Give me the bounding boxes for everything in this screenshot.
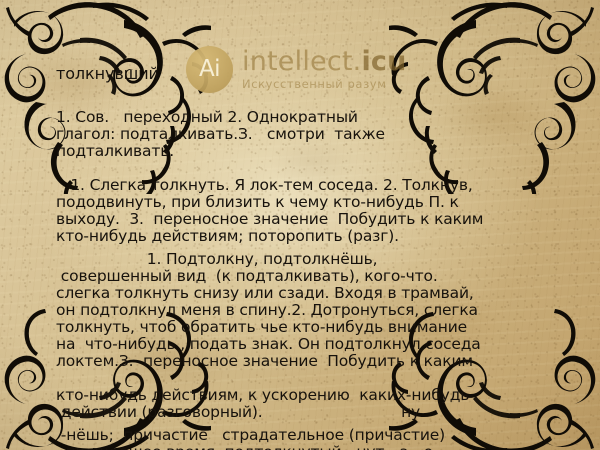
- body-line: глагол: подталкивать.З. смотри также: [56, 127, 385, 143]
- body-line: прошедшее время подтолкнутый, -нут, -а, …: [56, 445, 438, 450]
- body-line: совершенный вид (к подталкивать), кого-ч…: [56, 269, 438, 285]
- body-line: выходу. 3. переносное значение Побудить …: [56, 212, 483, 228]
- body-line: 1. Сов. переходный 2. Однократный: [56, 110, 358, 126]
- body-line: слегка толкнуть снизу или сзади. Входя в…: [56, 286, 474, 302]
- body-line: кто-нибудь действиям; поторопить (разг).: [56, 229, 399, 245]
- body-line: 1. Подтолкну, подтолкнёшь,: [56, 252, 377, 268]
- slide-canvas: Ai intellect.icu Искусственный разум тол…: [0, 0, 600, 450]
- body-line: локтем.З. переносное значение Побудить к…: [56, 354, 473, 370]
- body-line: на что-нибудь , подать знак. Он подтолкн…: [56, 337, 481, 353]
- body-line: действии (разговорный). ну: [56, 405, 420, 421]
- body-line: подталкивать.: [56, 144, 174, 160]
- body-line: пододвинуть, при близить к чему кто-нибу…: [56, 195, 459, 211]
- dictionary-text-layer: толкнувший 1. Сов. переходный 2. Однокра…: [0, 0, 600, 450]
- body-line: толкнуть, чтоб обратить чье кто-нибудь в…: [56, 320, 467, 336]
- body-line: -нёшь; причастие страдательное (причасти…: [56, 428, 445, 444]
- body-line: он подтолкнул меня в спину.2. Дотронутьс…: [56, 303, 478, 319]
- body-line: кто-нибудь действиям, к ускорению каких-…: [56, 388, 469, 404]
- headword: толкнувший: [56, 64, 159, 83]
- body-line: 1. Слегка толкнуть. Я лок-тем соседа. 2.…: [56, 178, 473, 194]
